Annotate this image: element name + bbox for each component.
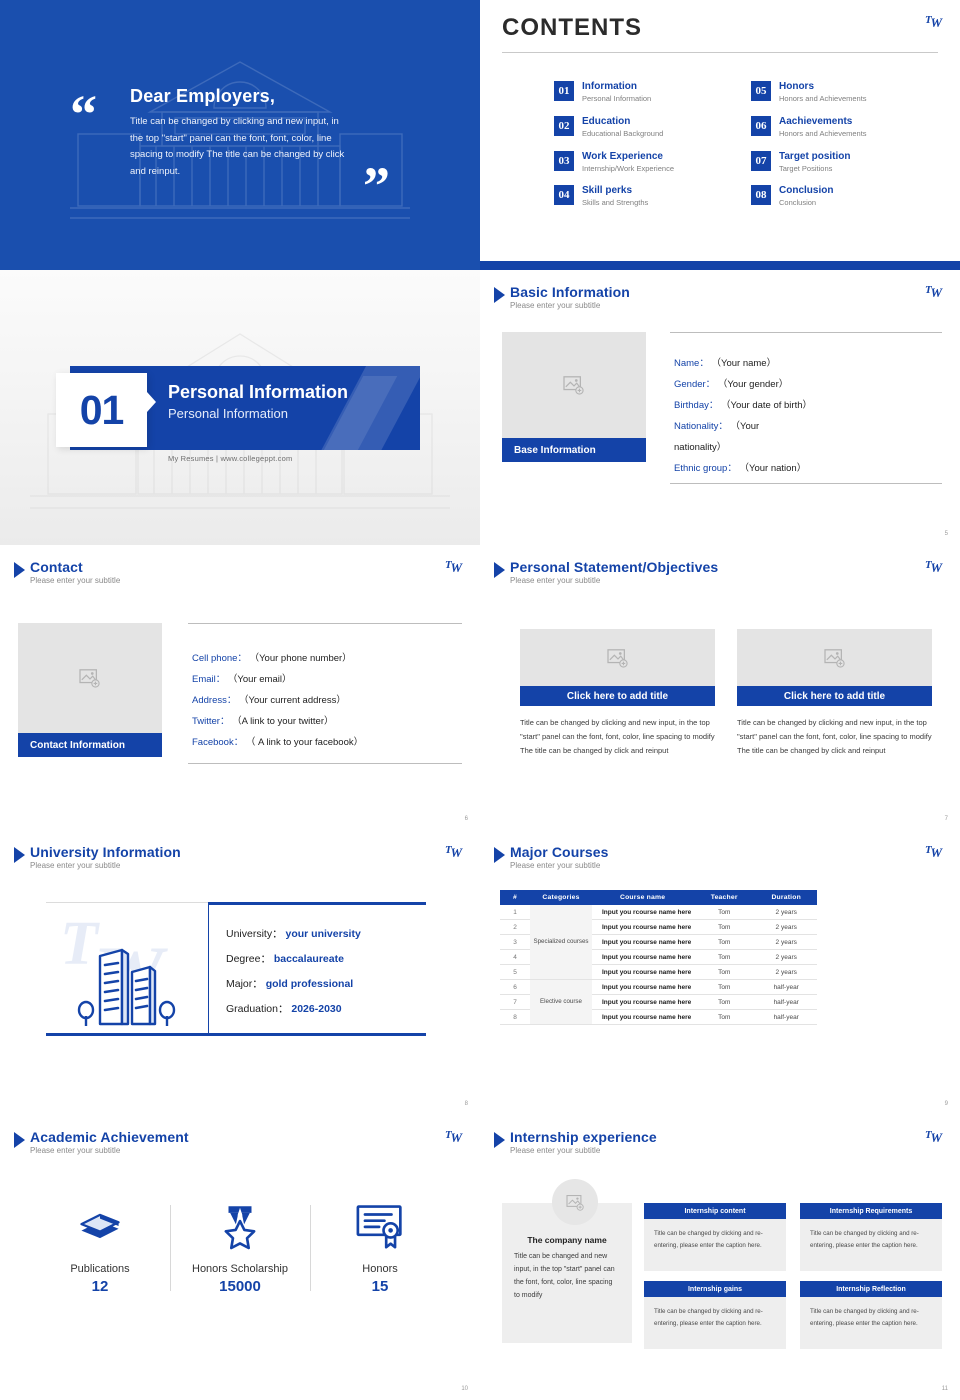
cover-background: “ ” Dear Employers, Title can be changed… [0,0,480,270]
stat-value: 15000 [219,1278,261,1295]
cell-index: 6 [500,980,530,995]
university-value: baccalaureate [274,953,344,965]
tw-monogram-logo-icon: T W [924,1125,948,1147]
info-row: nationality） [674,437,942,458]
info-label: Email： [192,674,225,685]
info-value: nationality） [674,442,726,453]
internship-card-caption[interactable]: Internship Reflection [800,1281,942,1297]
slide-university-information[interactable]: University Information Please enter your… [0,830,480,1115]
tw-monogram-logo-icon: T W [924,280,948,302]
table-row[interactable]: 6 Elective course Input you rcourse name… [500,980,817,995]
tw-monogram-logo-icon: T W [924,10,948,32]
info-label: Address： [192,695,236,706]
page-title: Academic Achievement [30,1129,189,1145]
tw-monogram-logo-icon: T W [444,840,468,862]
cell-index: 1 [500,905,530,920]
slide-basic-information[interactable]: Basic Information Please enter your subt… [480,270,960,545]
certificate-icon [354,1199,406,1253]
slide-header: Academic Achievement Please enter your s… [14,1129,189,1155]
page-title: Basic Information [510,284,630,300]
photo-caption: Base Information [502,438,646,462]
toc-subheading: Honors and Achievements [779,94,867,104]
page-number: 7 [945,816,948,822]
internship-card-body: Title can be changed by clicking and re-… [800,1297,942,1349]
statement-card-body: Title can be changed by clicking and new… [520,716,715,758]
slide-contact[interactable]: Contact Please enter your subtitle T W C… [0,545,480,830]
info-value: （ A link to your facebook） [246,737,363,748]
internship-card-caption[interactable]: Internship content [644,1203,786,1219]
toc-subheading: Internship/Work Experience [582,164,674,174]
info-value: （Your name） [711,358,776,369]
column-header-categories: Categories [530,890,592,905]
image-placeholder-icon[interactable] [18,623,162,733]
stat-label: Honors [362,1263,397,1275]
university-value: 2026-2030 [291,1003,341,1015]
quote-open-icon: “ [70,96,97,134]
toc-number: 02 [554,116,574,136]
page-subtitle: Please enter your subtitle [30,576,120,585]
cell-duration: half-year [755,980,817,995]
university-row: University： your university [226,922,361,947]
university-row: Graduation： 2026-2030 [226,997,361,1022]
statement-card-list: Click here to add title Title can be cha… [520,629,932,758]
section-number: 01 [80,387,124,434]
toc-item[interactable]: 08 Conclusion Conclusion [751,185,938,208]
triangle-bullet-icon [14,562,25,578]
toc-heading: Aachievements [779,116,867,128]
toc-heading: Information [582,81,651,93]
svg-text:W: W [451,1130,464,1145]
slide-cover[interactable]: “ ” Dear Employers, Title can be changed… [0,0,480,270]
stat-item[interactable]: Honors 15 [310,1199,450,1295]
info-value: （Your gender） [718,379,788,390]
cell-category: Specialized courses [530,905,592,980]
internship-card-body: Title can be changed by clicking and re-… [800,1219,942,1271]
table-of-contents-list: 01 Information Personal Information 05 H… [502,81,938,208]
cell-index: 2 [500,920,530,935]
page-subtitle: Please enter your subtitle [510,301,630,310]
section-number-box: 01 [56,373,147,447]
chevron-right-icon [147,392,156,412]
university-label: Major： [226,978,263,990]
university-row: Degree： baccalaureate [226,947,361,972]
toc-subheading: Educational Background [582,129,663,139]
slide-internship-experience[interactable]: Internship experience Please enter your … [480,1115,960,1400]
column-header-duration: Duration [755,890,817,905]
slide-thumbnail-grid: “ ” Dear Employers, Title can be changed… [0,0,960,1400]
slide-header: Personal Statement/Objectives Please ent… [494,559,718,585]
info-value: （A link to your twitter） [232,716,333,727]
info-label: Twitter： [192,716,229,727]
info-bottom-rule [670,483,942,484]
info-label: Name： [674,358,709,369]
university-value: gold professional [266,978,354,990]
page-number: 5 [945,531,948,537]
slide-header: Basic Information Please enter your subt… [494,284,630,310]
contents-divider-rule [502,52,938,53]
slide-academic-achievement[interactable]: Academic Achievement Please enter your s… [0,1115,480,1400]
info-value: （Your date of birth） [721,400,812,411]
page-subtitle: Please enter your subtitle [510,1146,657,1155]
info-row: Name： （Your name） [674,353,942,374]
page-number: 8 [465,1101,468,1107]
university-value: your university [286,928,361,940]
stat-item[interactable]: Publications 12 [30,1199,170,1295]
internship-card[interactable]: Internship content Title can be changed … [644,1203,786,1271]
triangle-bullet-icon [14,1132,25,1148]
info-row: Cell phone： （Your phone number） [192,648,462,669]
column-header-teacher: Teacher [693,890,755,905]
achievement-stats-row: Publications 12 Honors Scholarship [0,1199,480,1295]
slide-header: Major Courses Please enter your subtitle [494,844,609,870]
cell-course-name: Input you rcourse name here [592,920,693,935]
toc-heading: Skill perks [582,185,648,197]
info-row: Gender： （Your gender） [674,374,942,395]
table-header-row: # Categories Course name Teacher Duratio… [500,890,817,905]
internship-card[interactable]: Internship Requirements Title can be cha… [800,1203,942,1271]
svg-text:W: W [931,285,944,300]
cell-course-name: Input you rcourse name here [592,905,693,920]
info-label: Ethnic group： [674,463,737,474]
internship-card-caption[interactable]: Internship Requirements [800,1203,942,1219]
slide-contents[interactable]: CONTENTS 01 Information Personal Informa… [480,0,960,270]
university-row: Major： gold professional [226,972,361,997]
cover-body-text: Title can be changed by clicking and new… [130,114,350,181]
university-label: Degree： [226,953,271,965]
cell-course-name: Input you rcourse name here [592,980,693,995]
stat-label: Honors Scholarship [192,1263,288,1275]
internship-card[interactable]: Internship gains Title can be changed by… [644,1281,786,1349]
tw-monogram-logo-icon: T W [924,840,948,862]
cell-duration: 2 years [755,905,817,920]
image-placeholder-icon[interactable] [520,629,715,686]
page-subtitle: Please enter your subtitle [30,1146,189,1155]
internship-card-grid: Internship content Title can be changed … [644,1203,942,1349]
toc-heading: Target position [779,151,850,163]
info-row: Email： （Your email） [192,669,462,690]
internship-card-caption[interactable]: Internship gains [644,1281,786,1297]
cell-course-name: Input you rcourse name here [592,950,693,965]
info-label: Birthday： [674,400,718,411]
triangle-bullet-icon [14,847,25,863]
photo-card[interactable]: Base Information [502,332,646,462]
info-value: （Your [731,421,760,432]
internship-card-body: Title can be changed by clicking and re-… [644,1219,786,1271]
statement-card-caption[interactable]: Click here to add title [737,686,932,706]
toc-number: 04 [554,185,574,205]
cell-duration: half-year [755,1010,817,1025]
cell-duration: 2 years [755,920,817,935]
toc-number: 06 [751,116,771,136]
triangle-bullet-icon [494,847,505,863]
cell-duration: 2 years [755,950,817,965]
svg-text:W: W [451,845,464,860]
svg-text:W: W [931,845,944,860]
page-number: 6 [465,816,468,822]
university-panel: T W [46,896,426,1046]
internship-card-body: Title can be changed by clicking and re-… [644,1297,786,1349]
svg-text:W: W [931,1130,944,1145]
toc-number: 07 [751,151,771,171]
image-placeholder-icon[interactable] [737,629,932,686]
info-label: Gender： [674,379,715,390]
toc-subheading: Target Positions [779,164,850,174]
page-title: University Information [30,844,181,860]
toc-subheading: Skills and Strengths [582,198,648,208]
svg-text:W: W [931,15,944,30]
page-number: 9 [945,1101,948,1107]
toc-heading: Honors [779,81,867,93]
cell-teacher: Tom [693,950,755,965]
university-label: Graduation： [226,1003,288,1015]
university-bottom-rule [46,1033,426,1036]
page-subtitle: Please enter your subtitle [510,576,718,585]
toc-heading: Education [582,116,663,128]
info-bottom-rule [188,763,462,764]
cell-teacher: Tom [693,980,755,995]
cell-index: 8 [500,1010,530,1025]
info-row: Ethnic group： （Your nation） [674,458,942,479]
university-vertical-rule [208,902,209,1036]
page-subtitle: Please enter your subtitle [510,861,609,870]
stat-value: 15 [372,1278,389,1295]
triangle-bullet-icon [494,1132,505,1148]
university-label: University： [226,928,283,940]
page-title: Personal Statement/Objectives [510,559,718,575]
cell-duration: half-year [755,995,817,1010]
info-row: Nationality： （Your [674,416,942,437]
info-label: Nationality： [674,421,728,432]
cell-teacher: Tom [693,935,755,950]
company-description: Title can be changed and new input, in t… [514,1251,620,1303]
company-card[interactable]: The company name Title can be changed an… [502,1203,632,1343]
slide-header: University Information Please enter your… [14,844,181,870]
page-title: Major Courses [510,844,609,860]
toc-number: 01 [554,81,574,101]
section-title: Personal Information [168,382,348,403]
info-row: Address： （Your current address） [192,690,462,711]
internship-card[interactable]: Internship Reflection Title can be chang… [800,1281,942,1349]
info-label: Cell phone： [192,653,247,664]
page-title: Contact [30,559,120,575]
column-header-index: # [500,890,530,905]
slide-personal-statement[interactable]: Personal Statement/Objectives Please ent… [480,545,960,830]
stat-item[interactable]: Honors Scholarship 15000 [170,1199,310,1295]
city-buildings-icon [70,938,200,1033]
contents-title: CONTENTS [502,14,938,42]
info-list: Cell phone： （Your phone number） Email： （… [188,623,462,764]
toc-subheading: Conclusion [779,198,833,208]
info-value: （Your nation） [739,463,806,474]
toc-number: 08 [751,185,771,205]
svg-text:W: W [451,560,464,575]
info-row: Twitter： （A link to your twitter） [192,711,462,732]
books-stack-icon [74,1199,126,1253]
page-number: 11 [942,1386,948,1392]
quote-close-icon: ” [363,168,390,206]
info-label: Facebook： [192,737,243,748]
university-top-rule [208,902,426,905]
toc-number: 05 [751,81,771,101]
info-list: Name： （Your name） Gender： （Your gender） … [670,332,942,484]
university-hairline [46,902,208,903]
statement-card[interactable]: Click here to add title Title can be cha… [737,629,932,758]
toc-item[interactable]: 03 Work Experience Internship/Work Exper… [554,151,741,174]
statement-card-body: Title can be changed by clicking and new… [737,716,932,758]
triangle-bullet-icon [494,287,505,303]
cell-index: 4 [500,950,530,965]
toc-subheading: Personal Information [582,94,651,104]
cell-teacher: Tom [693,965,755,980]
info-value: （Your email） [228,674,292,685]
university-info-list: University： your university Degree： bacc… [226,922,361,1022]
toc-heading: Work Experience [582,151,674,163]
stat-value: 12 [92,1278,109,1295]
courses-table: # Categories Course name Teacher Duratio… [500,890,817,1025]
cell-duration: 2 years [755,965,817,980]
image-placeholder-icon[interactable] [552,1179,598,1225]
statement-card[interactable]: Click here to add title Title can be cha… [520,629,715,758]
toc-item[interactable]: 02 Education Educational Background [554,116,741,139]
toc-subheading: Honors and Achievements [779,129,867,139]
statement-card-caption[interactable]: Click here to add title [520,686,715,706]
cell-course-name: Input you rcourse name here [592,995,693,1010]
toc-heading: Conclusion [779,185,833,197]
cover-title: Dear Employers, [130,86,275,107]
cell-teacher: Tom [693,995,755,1010]
contents-bottom-bar [480,261,960,270]
toc-item[interactable]: 06 Aachievements Honors and Achievements [751,116,938,139]
cell-course-name: Input you rcourse name here [592,935,693,950]
toc-item[interactable]: 07 Target position Target Positions [751,151,938,174]
info-value: （Your current address） [239,695,346,706]
toc-item[interactable]: 04 Skill perks Skills and Strengths [554,185,741,208]
info-row: Birthday： （Your date of birth） [674,395,942,416]
section-footer-credit: My Resumes | www.collegeppt.com [168,454,292,463]
section-subtitle: Personal Information [168,406,288,421]
slide-header: Internship experience Please enter your … [494,1129,657,1155]
page-title: Internship experience [510,1129,657,1145]
photo-card[interactable]: Contact Information [18,623,162,757]
stat-label: Publications [70,1263,129,1275]
table-row[interactable]: 1 Specialized courses Input you rcourse … [500,905,817,920]
page-subtitle: Please enter your subtitle [30,861,181,870]
slide-header: Contact Please enter your subtitle [14,559,120,585]
company-name: The company name [514,1235,620,1245]
tw-monogram-logo-icon: T W [444,555,468,577]
cell-teacher: Tom [693,905,755,920]
svg-text:W: W [931,560,944,575]
cell-category: Elective course [530,980,592,1025]
page-number: 10 [461,1386,468,1392]
photo-caption: Contact Information [18,733,162,757]
tw-monogram-logo-icon: T W [444,1125,468,1147]
toc-number: 03 [554,151,574,171]
info-row: Facebook： （ A link to your facebook） [192,732,462,753]
column-header-course-name: Course name [592,890,693,905]
slide-section-divider[interactable]: 01 Personal Information Personal Informa… [0,270,480,545]
cell-index: 3 [500,935,530,950]
image-placeholder-icon[interactable] [502,332,646,438]
toc-item[interactable]: 01 Information Personal Information [554,81,741,104]
cell-teacher: Tom [693,920,755,935]
info-value: （Your phone number） [250,653,352,664]
cell-teacher: Tom [693,1010,755,1025]
cell-course-name: Input you rcourse name here [592,965,693,980]
cell-duration: 2 years [755,935,817,950]
medal-star-icon [217,1199,263,1253]
cell-index: 5 [500,965,530,980]
toc-item[interactable]: 05 Honors Honors and Achievements [751,81,938,104]
triangle-bullet-icon [494,562,505,578]
tw-monogram-logo-icon: T W [924,555,948,577]
cell-index: 7 [500,995,530,1010]
slide-major-courses[interactable]: Major Courses Please enter your subtitle… [480,830,960,1115]
cell-course-name: Input you rcourse name here [592,1010,693,1025]
